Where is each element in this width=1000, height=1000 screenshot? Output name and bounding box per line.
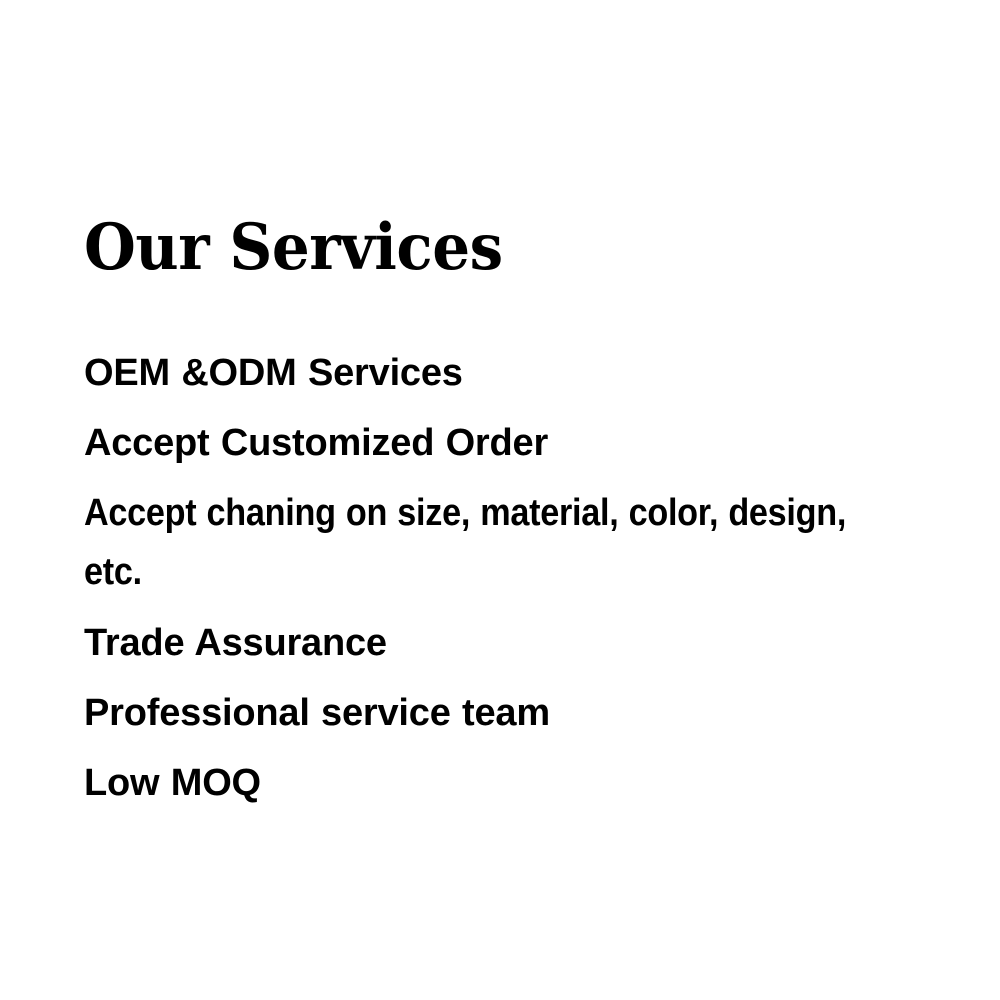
service-list-item: OEM &ODM Services — [84, 344, 934, 402]
service-list-item: Low MOQ — [84, 754, 934, 812]
page-title: Our Services — [84, 212, 503, 284]
service-list-item: Professional service team — [84, 684, 934, 742]
services-panel: Our Services OEM &ODM Services Accept Cu… — [0, 0, 1000, 1000]
service-list-item: Accept chaning on size, material, color,… — [84, 484, 903, 602]
service-list-item: Trade Assurance — [84, 614, 934, 672]
service-list-item: Accept Customized Order — [84, 414, 934, 472]
services-list: OEM &ODM Services Accept Customized Orde… — [84, 344, 934, 812]
